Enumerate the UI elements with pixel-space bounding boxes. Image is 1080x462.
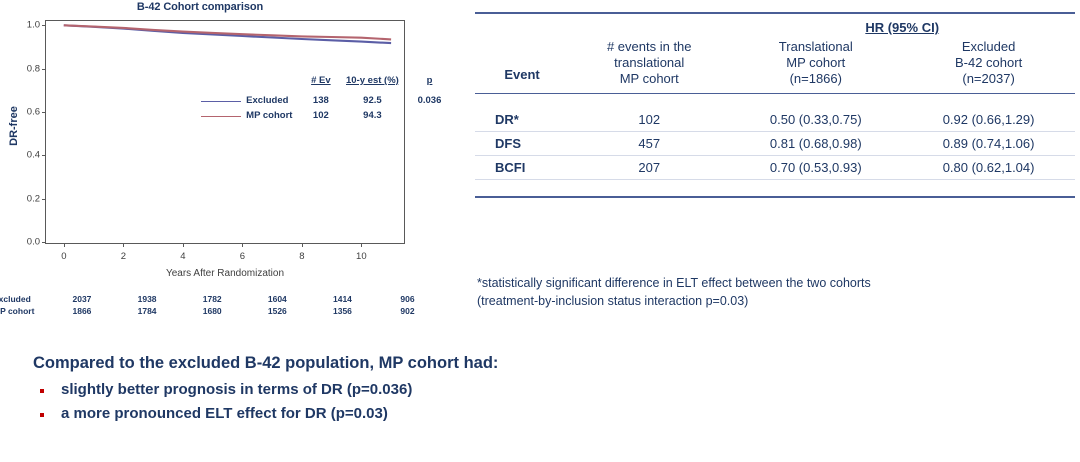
- y-tick-label: 0.4: [27, 150, 40, 161]
- column-header-row: Event # events in the translational MP c…: [475, 37, 1075, 93]
- y-tick-mark: [42, 199, 46, 200]
- table-spacer: [475, 94, 1075, 108]
- y-tick-label: 1.0: [27, 20, 40, 31]
- x-tick-mark: [242, 243, 243, 247]
- col-header-events-n-line1: # events in the: [573, 39, 725, 55]
- table-row: BCFI2070.70 (0.53,0.93)0.80 (0.62,1.04): [475, 155, 1075, 179]
- cell-event: BCFI: [475, 155, 569, 179]
- conclusion-text: a more pronounced ELT effect for DR (p=0…: [51, 405, 388, 422]
- legend-est-mp-cohort: 94.3: [337, 108, 408, 123]
- conclusion-text: slightly better prognosis in terms of DR…: [51, 381, 412, 398]
- cell-transl: 0.50 (0.33,0.75): [729, 108, 902, 132]
- conclusions-list: slightly better prognosis in terms of DR…: [33, 380, 1033, 422]
- y-tick-mark: [42, 112, 46, 113]
- legend-est-excluded: 92.5: [337, 93, 408, 108]
- legend-swatch-excluded: [201, 93, 246, 108]
- cell-events_n: 457: [569, 131, 729, 155]
- legend-label-mp-cohort: MP cohort: [246, 108, 305, 123]
- y-tick-mark: [42, 69, 46, 70]
- col-header-events-n-line3: MP cohort: [573, 71, 725, 87]
- x-tick-mark: [64, 243, 65, 247]
- x-tick-label: 2: [121, 251, 126, 262]
- stats-header-estimate: 10-y est (%): [337, 73, 408, 93]
- conclusion-item: a more pronounced ELT effect for DR (p=0…: [33, 404, 1033, 422]
- x-tick-mark: [183, 243, 184, 247]
- table-footnote: *statistically significant difference in…: [477, 274, 1077, 310]
- x-tick-label: 0: [61, 251, 66, 262]
- stats-header-events: # Ev: [305, 73, 337, 93]
- at-risk-count: 1414: [310, 293, 375, 305]
- x-tick-label: 10: [356, 251, 367, 262]
- legend-p-value: 0.036: [408, 93, 451, 108]
- numbers-at-risk-table: Excluded20371938178216041414906MP cohort…: [0, 293, 440, 317]
- x-tick-label: 6: [240, 251, 245, 262]
- legend-events-excluded: 138: [305, 93, 337, 108]
- x-tick-mark: [361, 243, 362, 247]
- hazard-ratio-table-panel: HR (95% CI) Event # events in the transl…: [475, 12, 1075, 198]
- cell-excluded: 0.92 (0.66,1.29): [902, 108, 1075, 132]
- x-tick-mark: [302, 243, 303, 247]
- footnote-line-2: (treatment-by-inclusion status interacti…: [477, 292, 1077, 310]
- curve-mp-cohort: [64, 25, 391, 39]
- col-header-excl-line3: (n=2037): [906, 71, 1071, 87]
- y-tick-mark: [42, 25, 46, 26]
- at-risk-row: MP cohort18661784168015261356902: [0, 305, 440, 317]
- col-header-transl-line3: (n=1866): [733, 71, 898, 87]
- y-tick-mark: [42, 155, 46, 156]
- cell-event: DR*: [475, 108, 569, 132]
- footnote-line-1: *statistically significant difference in…: [477, 274, 1077, 292]
- at-risk-count: 1938: [115, 293, 180, 305]
- x-axis-label: Years After Randomization: [45, 268, 405, 279]
- bullet-icon: [33, 404, 51, 422]
- x-tick-label: 8: [299, 251, 304, 262]
- cell-excluded: 0.89 (0.74,1.06): [902, 131, 1075, 155]
- conclusions-block: Compared to the excluded B-42 population…: [33, 354, 1033, 428]
- stats-header-row: # Ev 10-y est (%) p: [201, 73, 451, 93]
- legend-row-excluded: Excluded 138 92.5 0.036: [201, 93, 451, 108]
- at-risk-count: 906: [375, 293, 440, 305]
- legend-swatch-mp-cohort: [201, 108, 246, 123]
- y-tick-label: 0.2: [27, 193, 40, 204]
- col-header-excl-line2: B-42 cohort: [906, 55, 1071, 71]
- col-header-event: Event: [475, 37, 569, 93]
- group-header-row: HR (95% CI): [475, 14, 1075, 37]
- at-risk-count: 1784: [115, 305, 180, 317]
- at-risk-count: 1866: [49, 305, 114, 317]
- km-chart-panel: B-42 Cohort comparison DR-free 0.00.20.4…: [0, 0, 440, 340]
- cell-event: DFS: [475, 131, 569, 155]
- conclusion-item: slightly better prognosis in terms of DR…: [33, 380, 1033, 398]
- col-header-transl-line2: MP cohort: [733, 55, 898, 71]
- survival-curves: [46, 21, 403, 242]
- table-row: DR*1020.50 (0.33,0.75)0.92 (0.66,1.29): [475, 108, 1075, 132]
- cell-transl: 0.81 (0.68,0.98): [729, 131, 902, 155]
- at-risk-count: 1526: [245, 305, 310, 317]
- y-tick-label: 0.8: [27, 63, 40, 74]
- table-rule-bottom: [475, 197, 1075, 198]
- y-axis-label: DR-free: [8, 96, 20, 156]
- at-risk-count: 1680: [180, 305, 245, 317]
- x-tick-label: 4: [180, 251, 185, 262]
- at-risk-count: 2037: [49, 293, 114, 305]
- legend-events-mp-cohort: 102: [305, 108, 337, 123]
- conclusions-heading: Compared to the excluded B-42 population…: [33, 354, 1033, 373]
- legend-p-empty: [408, 108, 451, 123]
- cell-events_n: 207: [569, 155, 729, 179]
- at-risk-count: 1604: [245, 293, 310, 305]
- chart-plot-area: 0.00.20.40.60.81.0 0246810 # Ev 10-y est…: [45, 20, 405, 244]
- col-header-excluded: Excluded B-42 cohort (n=2037): [902, 37, 1075, 93]
- col-header-events-n-line2: translational: [573, 55, 725, 71]
- table-row: DFS4570.81 (0.68,0.98)0.89 (0.74,1.06): [475, 131, 1075, 155]
- at-risk-count: 902: [375, 305, 440, 317]
- table-bottom-gap: [475, 179, 1075, 197]
- cell-excluded: 0.80 (0.62,1.04): [902, 155, 1075, 179]
- hazard-ratio-table: HR (95% CI) Event # events in the transl…: [475, 12, 1075, 198]
- cell-transl: 0.70 (0.53,0.93): [729, 155, 902, 179]
- chart-legend-stats: # Ev 10-y est (%) p Excluded 138 92.5 0.…: [201, 73, 451, 123]
- at-risk-count: 1782: [180, 293, 245, 305]
- chart-title: B-42 Cohort comparison: [0, 1, 400, 13]
- col-header-translational: Translational MP cohort (n=1866): [729, 37, 902, 93]
- stats-header-p: p: [408, 73, 451, 93]
- at-risk-label: Excluded: [0, 293, 49, 305]
- y-tick-mark: [42, 242, 46, 243]
- bullet-icon: [33, 380, 51, 398]
- y-tick-label: 0.0: [27, 237, 40, 248]
- y-tick-label: 0.6: [27, 107, 40, 118]
- cell-events_n: 102: [569, 108, 729, 132]
- at-risk-row: Excluded20371938178216041414906: [0, 293, 440, 305]
- hr-group-header: HR (95% CI): [729, 14, 1075, 37]
- at-risk-label: MP cohort: [0, 305, 49, 317]
- legend-row-mp-cohort: MP cohort 102 94.3: [201, 108, 451, 123]
- at-risk-count: 1356: [310, 305, 375, 317]
- legend-label-excluded: Excluded: [246, 93, 305, 108]
- col-header-events-n: # events in the translational MP cohort: [569, 37, 729, 93]
- x-tick-mark: [123, 243, 124, 247]
- col-header-excl-line1: Excluded: [906, 39, 1071, 55]
- col-header-transl-line1: Translational: [733, 39, 898, 55]
